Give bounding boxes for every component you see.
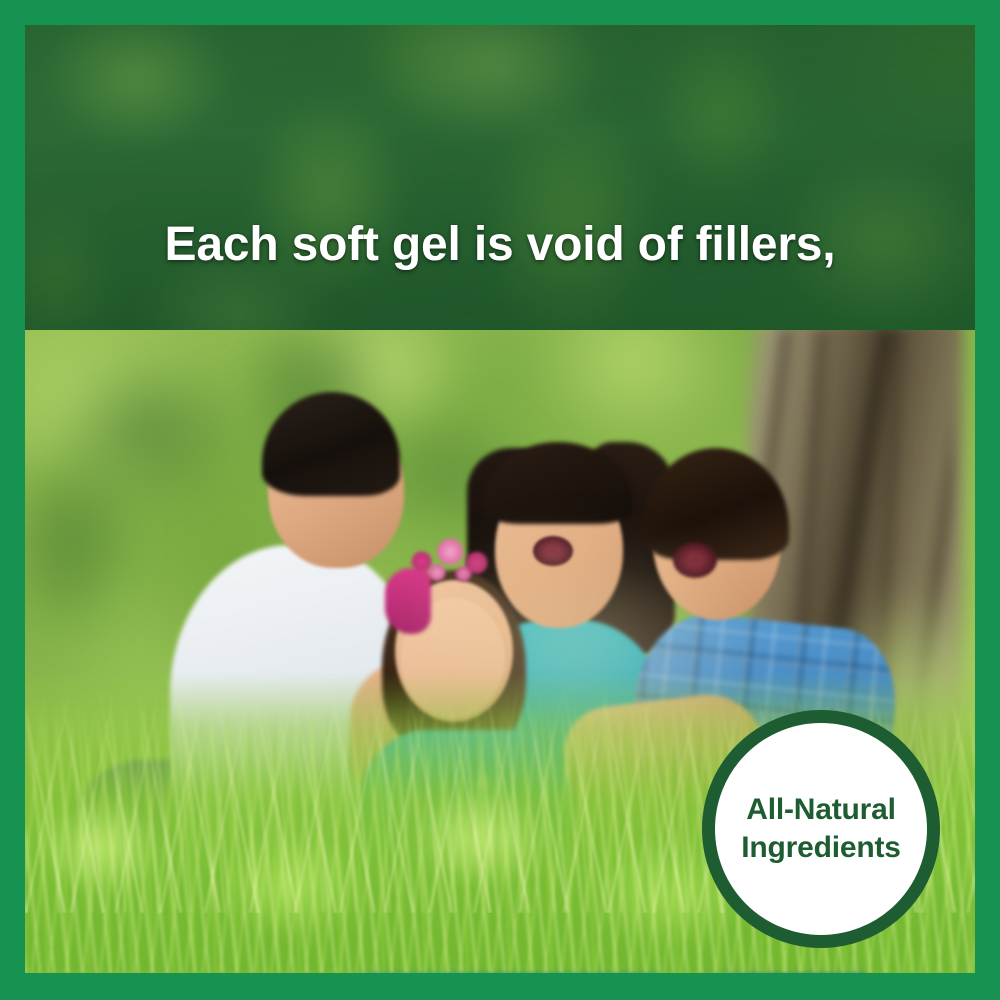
card-inner-content: Each soft gel is void of fillers, allerg… <box>25 25 975 973</box>
mother-mouth <box>533 536 573 566</box>
all-natural-ingredients-badge: All-Natural Ingredients <box>702 710 940 948</box>
daughter-flower-headband <box>393 528 503 590</box>
headline-panel: Each soft gel is void of fillers, allerg… <box>25 25 975 330</box>
son-mouth <box>673 542 717 578</box>
headline-text: Each soft gel is void of fillers, allerg… <box>25 87 975 330</box>
badge-line-2: Ingredients <box>741 829 901 867</box>
headline-line-1: Each soft gel is void of fillers, <box>25 213 975 276</box>
badge-line-1: All-Natural <box>746 791 896 829</box>
product-marketing-card: Each soft gel is void of fillers, allerg… <box>0 0 1000 1000</box>
